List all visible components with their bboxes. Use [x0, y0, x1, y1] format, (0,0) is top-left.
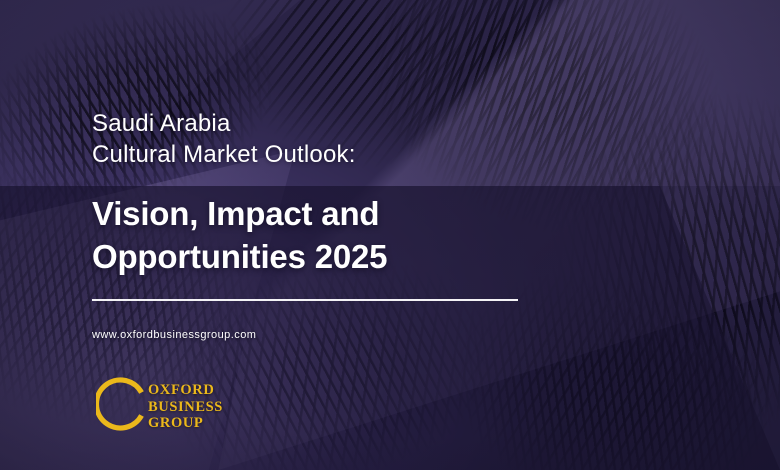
subtitle: Saudi Arabia Cultural Market Outlook:: [92, 108, 612, 170]
divider-rule: [92, 299, 518, 301]
logo-line-3: GROUP: [148, 415, 223, 432]
headline-line-1: Vision, Impact and: [92, 195, 379, 232]
logo-wordmark: OXFORD BUSINESS GROUP: [148, 382, 223, 432]
page-title: Vision, Impact and Opportunities 2025: [92, 192, 652, 278]
subtitle-line-2: Cultural Market Outlook:: [92, 139, 612, 170]
website-url[interactable]: www.oxfordbusinessgroup.com: [92, 329, 256, 341]
cover-banner: Saudi Arabia Cultural Market Outlook: Vi…: [0, 0, 780, 470]
headline-line-2: Opportunities 2025: [92, 235, 652, 278]
logo-line-1: OXFORD: [148, 382, 223, 399]
logo-line-2: BUSINESS: [148, 399, 223, 416]
ring-icon: [96, 375, 154, 433]
oxford-business-group-logo[interactable]: OXFORD BUSINESS GROUP: [96, 373, 246, 445]
subtitle-line-1: Saudi Arabia: [92, 110, 231, 137]
